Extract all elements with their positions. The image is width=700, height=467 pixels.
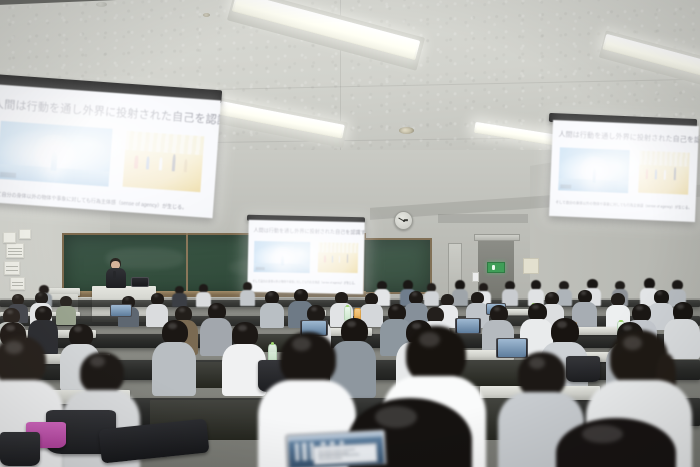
slide-content: 人間は行動を通し外界に投射された自己を認識する xyxy=(0,84,221,218)
presenter-torso xyxy=(106,268,126,288)
slide-images xyxy=(254,240,359,274)
presenter-laptop[interactable] xyxy=(131,277,149,287)
emergency-exit-sign xyxy=(487,262,505,273)
slide-caption: そして自分の身体以外の物体や事象に対しても行為主体感（sense of agen… xyxy=(556,199,696,210)
audience-member xyxy=(502,281,518,305)
door-frame xyxy=(474,234,520,241)
wall-notice xyxy=(523,258,539,274)
slide-content: 人間は行動を通し外界に投射された自己を認識する そして自分の身体以外の物体や事象… xyxy=(247,220,364,294)
audience-member xyxy=(56,296,76,324)
foreground-head xyxy=(556,418,676,467)
wall-poster xyxy=(3,232,16,243)
audience-member xyxy=(172,286,187,306)
audience-member xyxy=(152,320,196,394)
floor-bag xyxy=(0,432,40,466)
light-switch[interactable] xyxy=(472,272,479,282)
wall-poster xyxy=(19,229,31,239)
presenter xyxy=(104,258,128,290)
wall-poster xyxy=(4,261,20,275)
wall-clock xyxy=(394,211,413,230)
chalkboard-right-panel xyxy=(362,238,432,294)
slide-image-left xyxy=(558,147,630,193)
ceiling-soffit xyxy=(438,214,528,223)
microphone-icon xyxy=(113,271,116,278)
ceiling-speaker-icon xyxy=(203,13,210,17)
smoke-detector-icon xyxy=(96,2,107,7)
laptop-window[interactable] xyxy=(313,443,378,466)
left-projection-screen[interactable]: 人間は行動を通し外界に投射された自己を認識する xyxy=(0,84,221,218)
slide-image-left xyxy=(0,121,112,187)
slide-image-right xyxy=(638,151,690,195)
audience-laptop[interactable] xyxy=(110,304,132,317)
slide-image-right xyxy=(122,131,204,192)
slide-image-left xyxy=(254,240,311,272)
wall-poster xyxy=(6,243,24,258)
laptop-screen[interactable] xyxy=(288,432,384,467)
slide-caption: そして自分の身体以外の物体や事象に対しても行為主体感（sense of agen… xyxy=(252,279,363,285)
chalkboard-divider xyxy=(186,233,188,293)
slide-content: 人間は行動を通し外界に投射された自己を認識する そして自分の身体以外の物体や事象… xyxy=(549,120,699,222)
lecture-hall-photo: 人間は行動を通し外界に投射された自己を認識する xyxy=(0,0,700,467)
wall-poster xyxy=(10,277,25,290)
audience-member xyxy=(240,282,255,305)
ceiling-speaker-icon xyxy=(399,127,414,134)
slide-title: 人間は行動を通し外界に投射された自己を認識する xyxy=(558,129,698,145)
slide-images xyxy=(0,120,210,193)
right-projection-screen[interactable]: 人間は行動を通し外界に投射された自己を認識する そして自分の身体以外の物体や事象… xyxy=(549,120,699,222)
slide-title: 人間は行動を通し外界に投射された自己を認識する xyxy=(253,227,364,236)
slide-image-right xyxy=(318,242,359,273)
slide-images xyxy=(557,146,691,195)
slide-image-left-caption xyxy=(0,172,16,178)
audience-laptop[interactable] xyxy=(285,429,387,467)
center-projection-screen[interactable]: 人間は行動を通し外界に投射された自己を認識する そして自分の身体以外の物体や事象… xyxy=(247,220,364,294)
